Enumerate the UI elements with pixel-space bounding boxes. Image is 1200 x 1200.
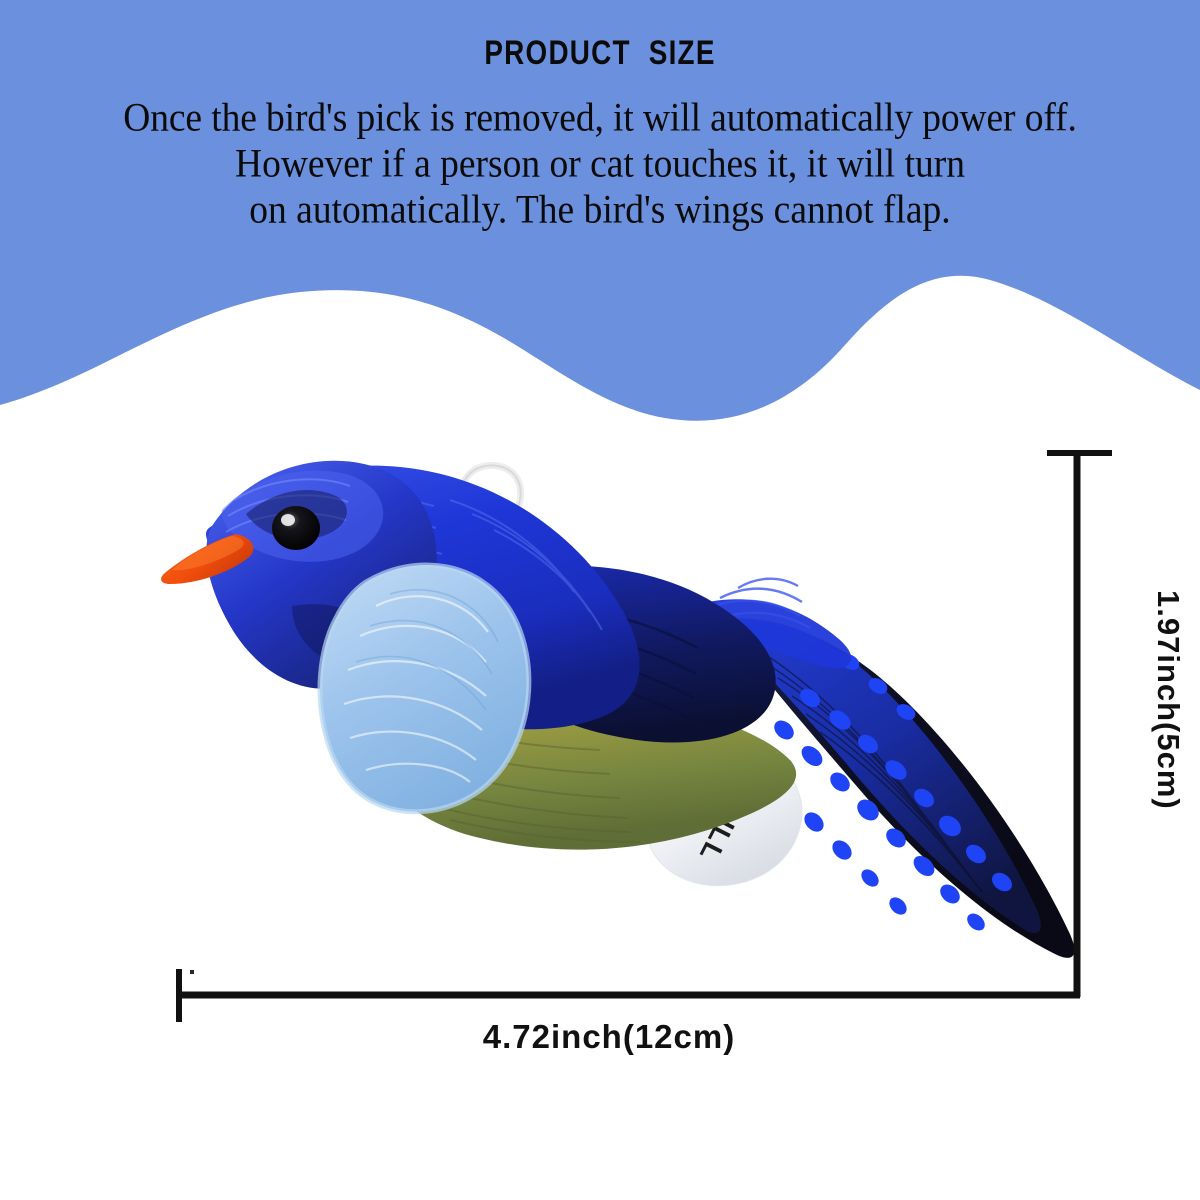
width-dimension-label-text: 4.72inch(12cm)	[483, 1018, 735, 1056]
dimension-speck	[190, 970, 194, 974]
width-dimension-label: 4.72inch(12cm)	[0, 1018, 1200, 1056]
height-dimension-label: 1.97inch(5cm)	[1150, 590, 1186, 810]
product-size-infographic: PRODUCT SIZE Once the bird's pick is rem…	[0, 0, 1200, 1200]
dimension-lines: 1.97inch(5cm) 4.72inch(12cm)	[0, 0, 1200, 1200]
